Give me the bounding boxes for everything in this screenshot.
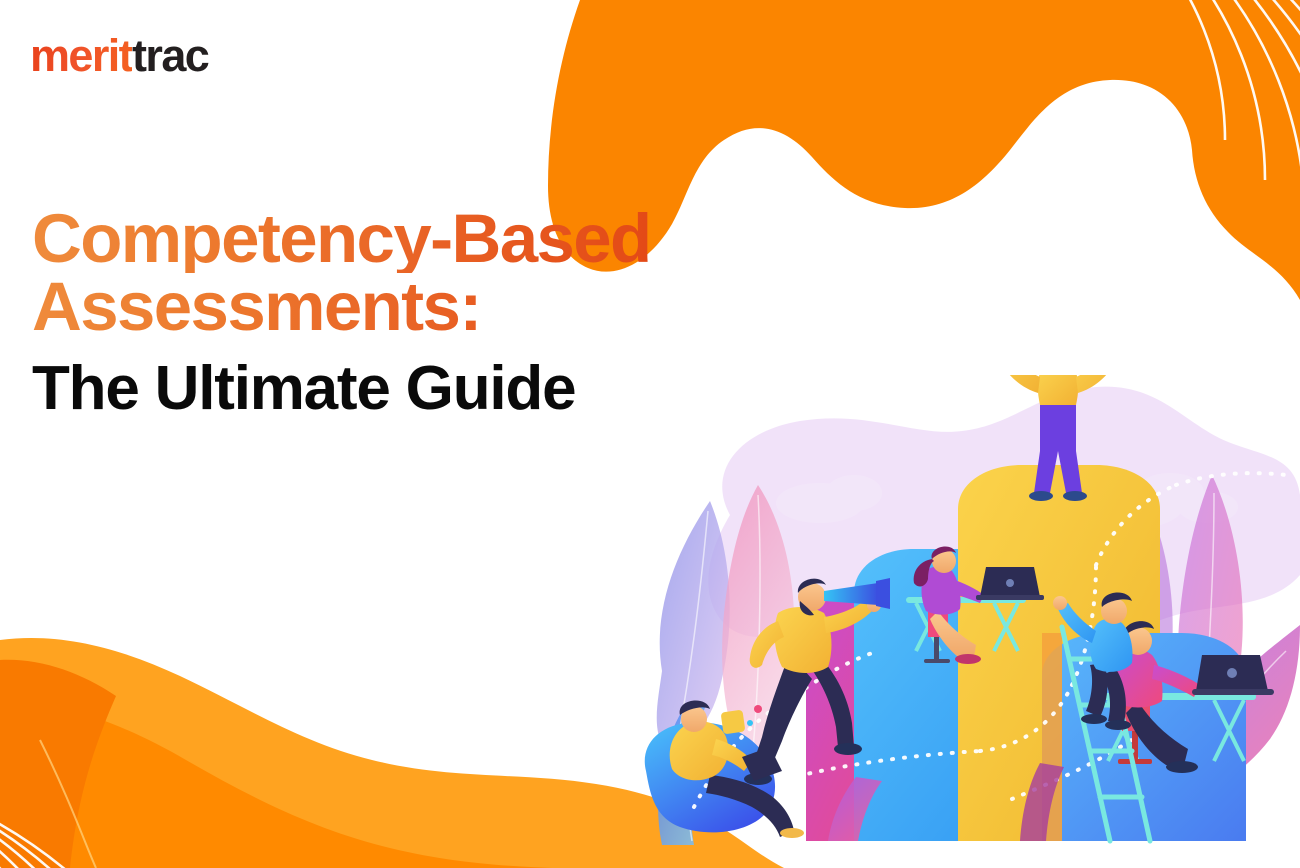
desk-mint-2 xyxy=(1096,693,1256,761)
background-blob xyxy=(708,387,1300,667)
page-title-line-2: Assessments: xyxy=(32,273,822,341)
cover-page: merittrac Competency-Based Assessments: … xyxy=(0,0,1300,868)
ladder xyxy=(1062,627,1150,841)
figure-man-at-desk xyxy=(1096,621,1274,773)
foreground-leaf-accents xyxy=(828,763,1064,841)
figure-winner-arms-raised xyxy=(993,375,1123,501)
career-growth-illustration xyxy=(610,375,1300,845)
figure-woman-at-desk xyxy=(906,546,1044,664)
logo-text-merit: merit xyxy=(30,30,132,81)
dotted-path-lines xyxy=(694,473,1286,807)
platform-pillars xyxy=(806,465,1246,841)
beanbag-seat xyxy=(645,722,775,832)
figure-beanbag-tablet-person xyxy=(670,700,804,838)
brand-logo[interactable]: merittrac xyxy=(30,33,208,78)
figure-ladder-climber xyxy=(1053,592,1133,730)
logo-text-trac: trac xyxy=(132,30,208,81)
desk-mint-1 xyxy=(906,597,1026,651)
headline-block: Competency-Based Assessments: The Ultima… xyxy=(32,205,822,420)
cloud-shapes xyxy=(776,473,1238,529)
figure-telescope-man xyxy=(744,578,890,785)
bottom-left-wave-shape xyxy=(0,638,784,868)
page-subtitle: The Ultimate Guide xyxy=(32,358,822,420)
page-title-line-1: Competency-Based xyxy=(32,205,822,273)
ladder-and-climber xyxy=(1053,592,1150,841)
decorative-leaves xyxy=(657,475,1300,845)
background-decoration xyxy=(0,0,1300,868)
